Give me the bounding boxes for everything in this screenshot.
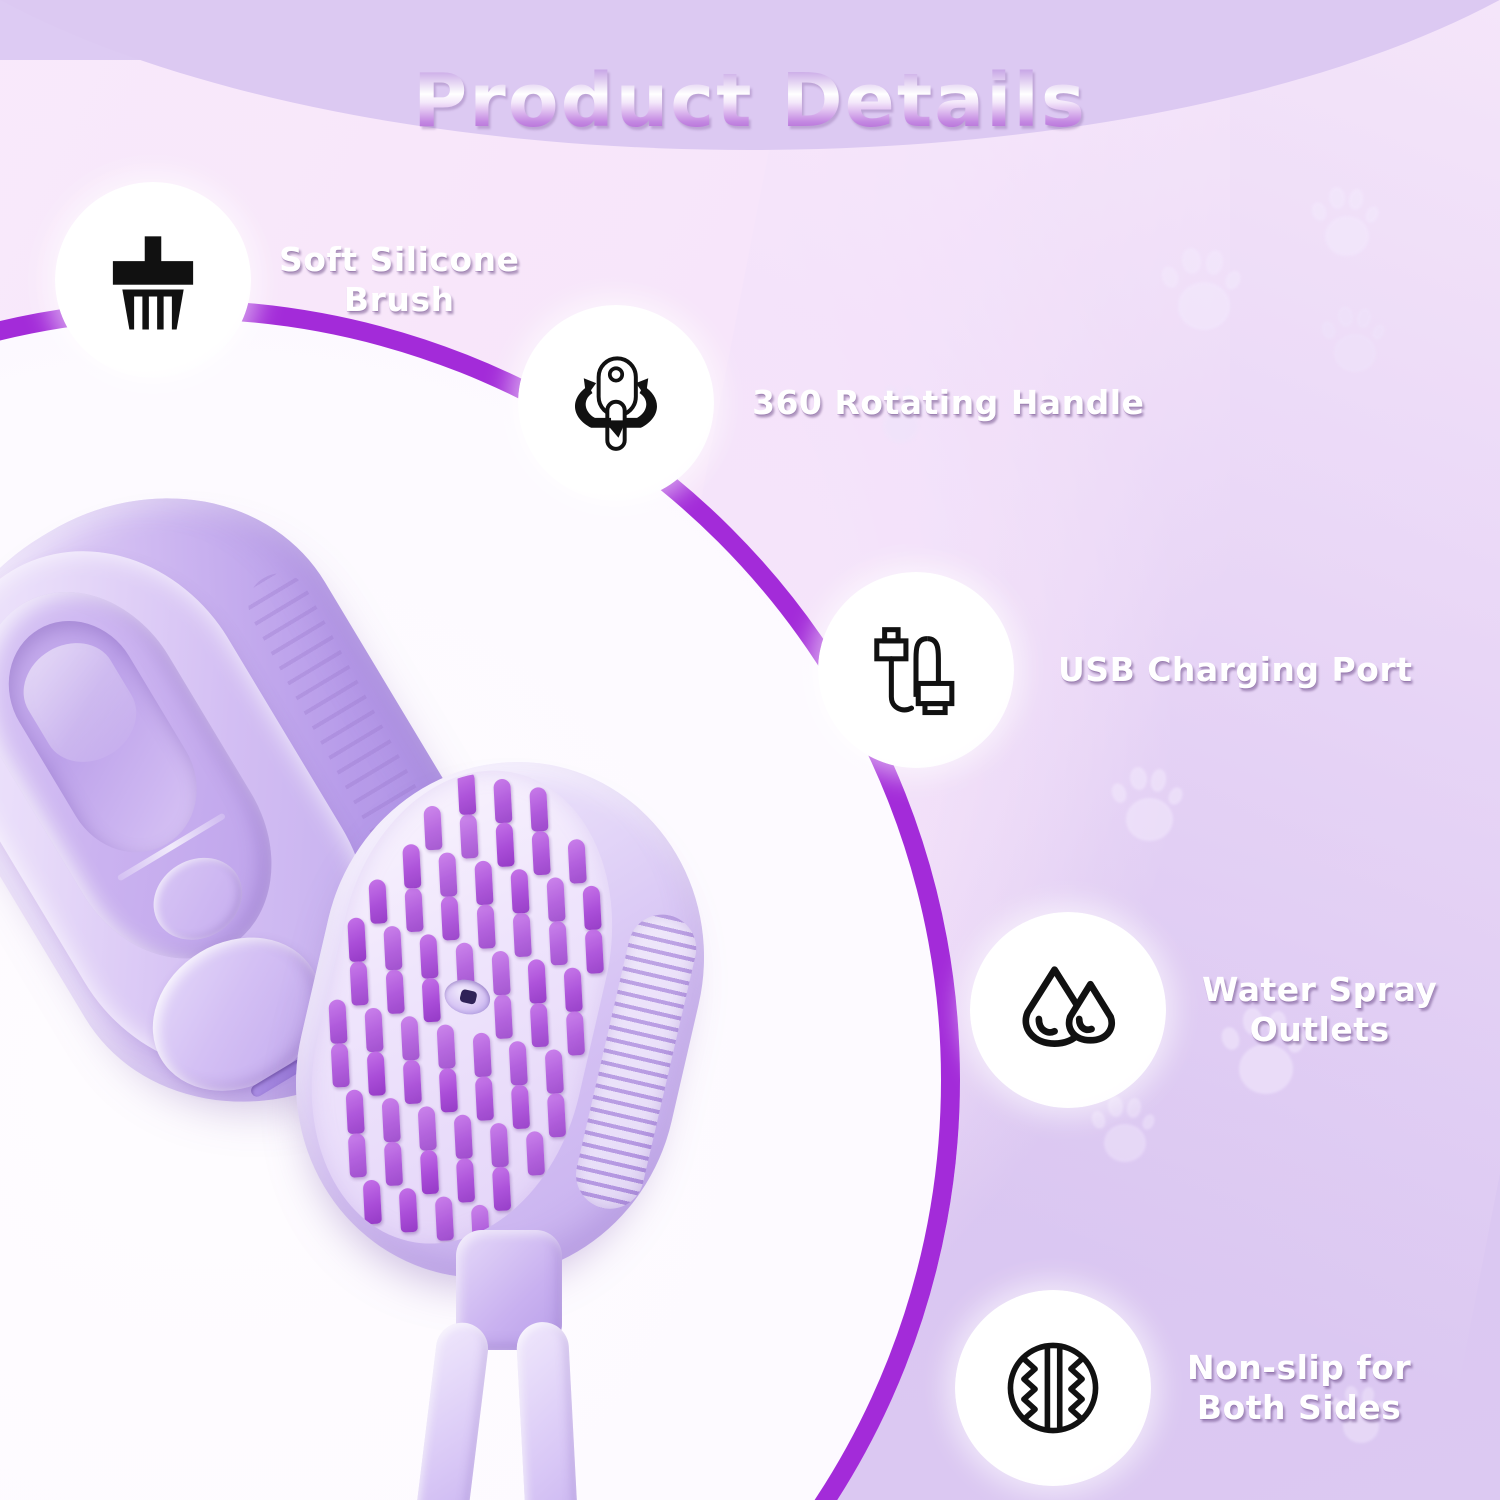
bristle-pin xyxy=(456,1158,475,1203)
brush-icon xyxy=(94,221,212,339)
bristle-pin xyxy=(454,1114,473,1159)
feature-label-usb-charging-port: USB Charging Port xyxy=(1058,650,1412,690)
feature-item-usb-charging-port: USB Charging Port xyxy=(818,572,1412,768)
bristle-pin xyxy=(546,877,565,922)
bristle-pin xyxy=(437,1024,456,1069)
usb-cable-icon-bubble xyxy=(818,572,1014,768)
bristle-pin xyxy=(404,887,423,932)
bristle-pin xyxy=(423,806,442,851)
bristle-pin xyxy=(363,1180,382,1225)
feature-label-soft-silicone-brush: Soft Silicone Brush xyxy=(279,240,519,321)
bristle-pin xyxy=(511,1084,530,1129)
rotate-360-handle-icon-bubble xyxy=(518,305,714,501)
paw-print-icon xyxy=(1320,300,1389,377)
bristle-pin xyxy=(331,1043,350,1088)
bristle-pin xyxy=(420,1150,439,1195)
bristle-pin xyxy=(419,934,438,979)
bristle-pin xyxy=(526,1131,545,1176)
bristle-pin xyxy=(402,844,421,889)
paw-print-icon xyxy=(1110,760,1187,846)
bristle-pin xyxy=(564,967,583,1012)
page-title: Product Details xyxy=(0,58,1500,144)
bristle-pin xyxy=(473,1032,492,1077)
bristle-pin xyxy=(528,959,547,1004)
stem-fork-right xyxy=(515,1321,580,1500)
feature-item-soft-silicone-brush: Soft Silicone Brush xyxy=(55,182,519,378)
bristle-pin xyxy=(491,951,510,996)
bristle-pin xyxy=(529,787,548,832)
bristle-pin xyxy=(547,1093,566,1138)
bristle-pin xyxy=(474,860,493,905)
rotate-360-handle-icon xyxy=(554,341,678,465)
paw-print-icon xyxy=(1310,180,1383,262)
brush-icon-bubble xyxy=(55,182,251,378)
usb-cable-icon xyxy=(860,614,972,726)
bristle-pin xyxy=(364,1008,383,1053)
feature-label-360-rotating-handle: 360 Rotating Handle xyxy=(752,383,1144,423)
bristle-pin xyxy=(439,1068,458,1113)
bristle-pin xyxy=(438,852,457,897)
water-drops-icon xyxy=(1012,954,1124,1066)
bristle-pin xyxy=(459,814,478,859)
bristle-pin xyxy=(585,929,604,974)
bristle-pin xyxy=(549,921,568,966)
non-slip-grip-icon xyxy=(997,1332,1109,1444)
bristle-pin xyxy=(386,969,405,1014)
bristle-pin xyxy=(475,1076,494,1121)
bristle-pin xyxy=(477,904,496,949)
bristle-pin xyxy=(566,1011,585,1056)
non-slip-grip-icon-bubble xyxy=(955,1290,1151,1486)
bristle-pin xyxy=(494,994,513,1039)
product-photo xyxy=(0,470,820,1500)
feature-item-water-spray-outlets: Water Spray Outlets xyxy=(970,912,1437,1108)
bristle-pin xyxy=(582,885,601,930)
feature-item-360-rotating-handle: 360 Rotating Handle xyxy=(518,305,1144,501)
bristle-pin xyxy=(368,879,387,924)
bristle-pin xyxy=(418,1106,437,1151)
bristle-pin xyxy=(384,1141,403,1186)
bristle-pin xyxy=(531,831,550,876)
bristle-pin xyxy=(530,1003,549,1048)
bristle-pin xyxy=(490,1123,509,1168)
bristle-pin xyxy=(513,912,532,957)
bristle-pin xyxy=(349,961,368,1006)
feature-label-water-spray-outlets: Water Spray Outlets xyxy=(1202,970,1437,1051)
bristle-pin xyxy=(382,1098,401,1143)
bristle-pin xyxy=(493,779,512,824)
water-drops-icon-bubble xyxy=(970,912,1166,1108)
product-details-infographic: Product Details Soft Silicone Brush xyxy=(0,0,1500,1500)
bristle-pin xyxy=(347,917,366,962)
bristle-pin xyxy=(495,822,514,867)
bristle-pin xyxy=(367,1051,386,1096)
bristle-pin xyxy=(399,1188,418,1233)
bristle-pin xyxy=(346,1089,365,1134)
bristle-pin xyxy=(328,999,347,1044)
bristle-pin xyxy=(509,1041,528,1086)
bristle-pin xyxy=(545,1049,564,1094)
handle-stem xyxy=(412,1230,602,1500)
stem-fork-left xyxy=(409,1320,491,1500)
bristle-pin xyxy=(510,869,529,914)
bristle-pin xyxy=(422,978,441,1023)
bristle-pin xyxy=(440,896,459,941)
paw-print-icon xyxy=(1160,240,1246,336)
bristle-pin xyxy=(568,839,587,884)
bristle-pin xyxy=(457,770,476,815)
bristle-pin xyxy=(348,1133,367,1178)
feature-item-non-slip-both-sides: Non-slip for Both Sides xyxy=(955,1290,1411,1486)
bristle-pin xyxy=(403,1059,422,1104)
bristle-pin xyxy=(400,1016,419,1061)
bristle-pin xyxy=(492,1166,511,1211)
bristle-pin xyxy=(383,926,402,971)
feature-label-non-slip-both-sides: Non-slip for Both Sides xyxy=(1187,1348,1411,1429)
